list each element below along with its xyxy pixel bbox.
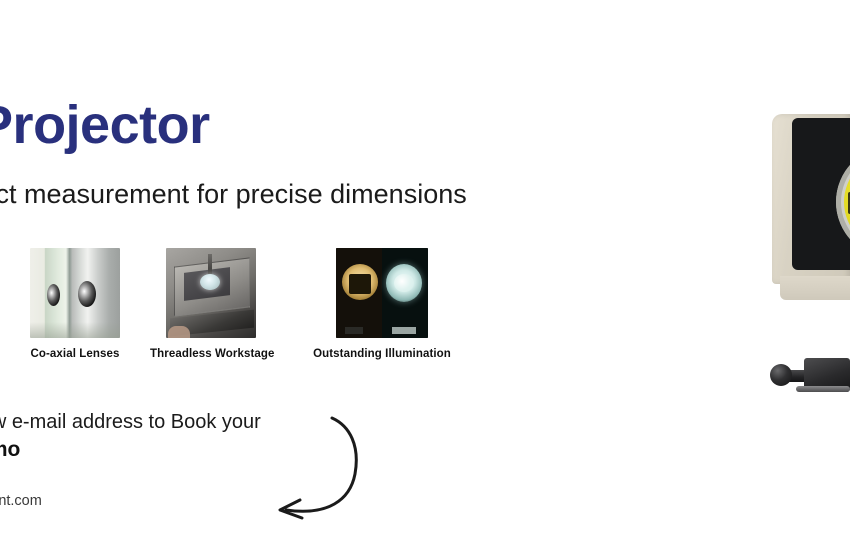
threadless-workstage-photo [166,248,256,338]
feature-label: Co-axial Lenses [18,348,132,360]
stage-foot [392,327,416,334]
feature-label: Threadless Workstage [150,348,272,360]
feature-list: Co-axial Lenses Threadless Workstage [0,248,480,378]
profile-projector-machine-photo [760,108,850,308]
cta-emphasis: Demo [0,438,20,462]
outstanding-illumination-photo [336,248,428,338]
page-subtitle: ntact measurement for precise dimensions [0,178,718,210]
machine-base [780,276,850,300]
machine-screen-panel [792,118,850,270]
marketing-slide: ile Projector ntact measurement for prec… [0,0,850,550]
lens-aperture-icon [47,284,60,306]
workstage-glass-sample [200,274,220,290]
contact-email[interactable]: strument.com [0,493,42,509]
feature-item-threadless-workstage: Threadless Workstage [150,248,272,360]
feature-item-outstanding-illumination: Outstanding Illumination [302,248,462,360]
co-axial-lenses-photo [30,248,120,338]
feature-label: Outstanding Illumination [302,348,462,360]
stage-foot [345,327,363,334]
cta-text: below e-mail address to Book your [0,408,474,437]
workstage-pin [208,254,212,274]
knob-handle [770,364,792,386]
lens-aperture-icon [78,281,96,307]
photo-shadow [30,322,120,338]
control-knob-photo [758,352,850,408]
knob-shaft [796,386,850,392]
silhouette-object [349,274,371,294]
feature-item-co-axial-lenses: Co-axial Lenses [18,248,132,360]
light-specular-highlight [394,274,414,292]
page-title: ile Projector [0,96,604,155]
operator-hand [168,326,190,338]
